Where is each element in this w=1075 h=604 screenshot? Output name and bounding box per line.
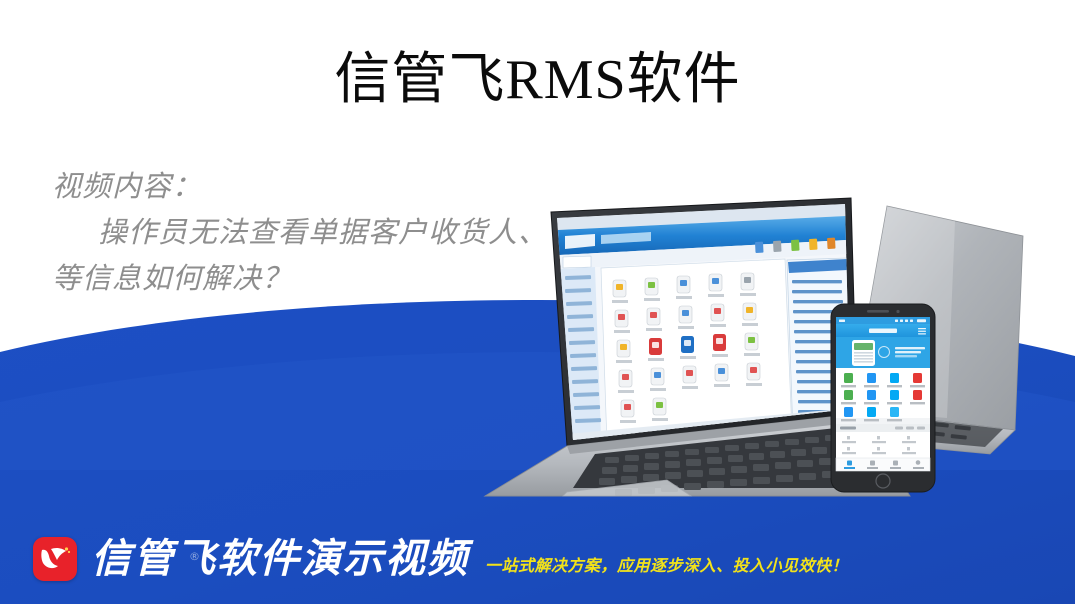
registered-mark: ® — [189, 535, 202, 579]
phone-earpiece — [867, 310, 889, 313]
xinguanfei-bird-logo-icon — [33, 537, 77, 581]
device-group — [455, 196, 1075, 516]
banner-title-text: 信管飞软件演示视频 — [91, 536, 469, 582]
bottom-banner: 信管飞软件演示视频 ® 一站式解决方案，应用逐步深入、投入小见效快！ — [0, 514, 1075, 604]
banner-tagline: 一站式解决方案，应用逐步深入、投入小见效快！ — [485, 556, 848, 576]
tab-active — [563, 256, 591, 268]
smartphone — [831, 304, 935, 492]
laptop-screen — [551, 196, 861, 448]
banner-title: 信管飞软件演示视频 ® — [91, 537, 469, 581]
slide-root: 信管飞RMS软件 视频内容： 操作员无法查看单据客户收货人、电话 等信息如何解决… — [0, 0, 1075, 604]
phone-front-camera-icon — [896, 310, 899, 313]
hamburger-menu-icon[interactable] — [918, 328, 926, 335]
phone-status-bar — [836, 317, 930, 324]
page-title: 信管飞RMS软件 — [0, 46, 1075, 114]
phone-app-title — [869, 329, 897, 334]
